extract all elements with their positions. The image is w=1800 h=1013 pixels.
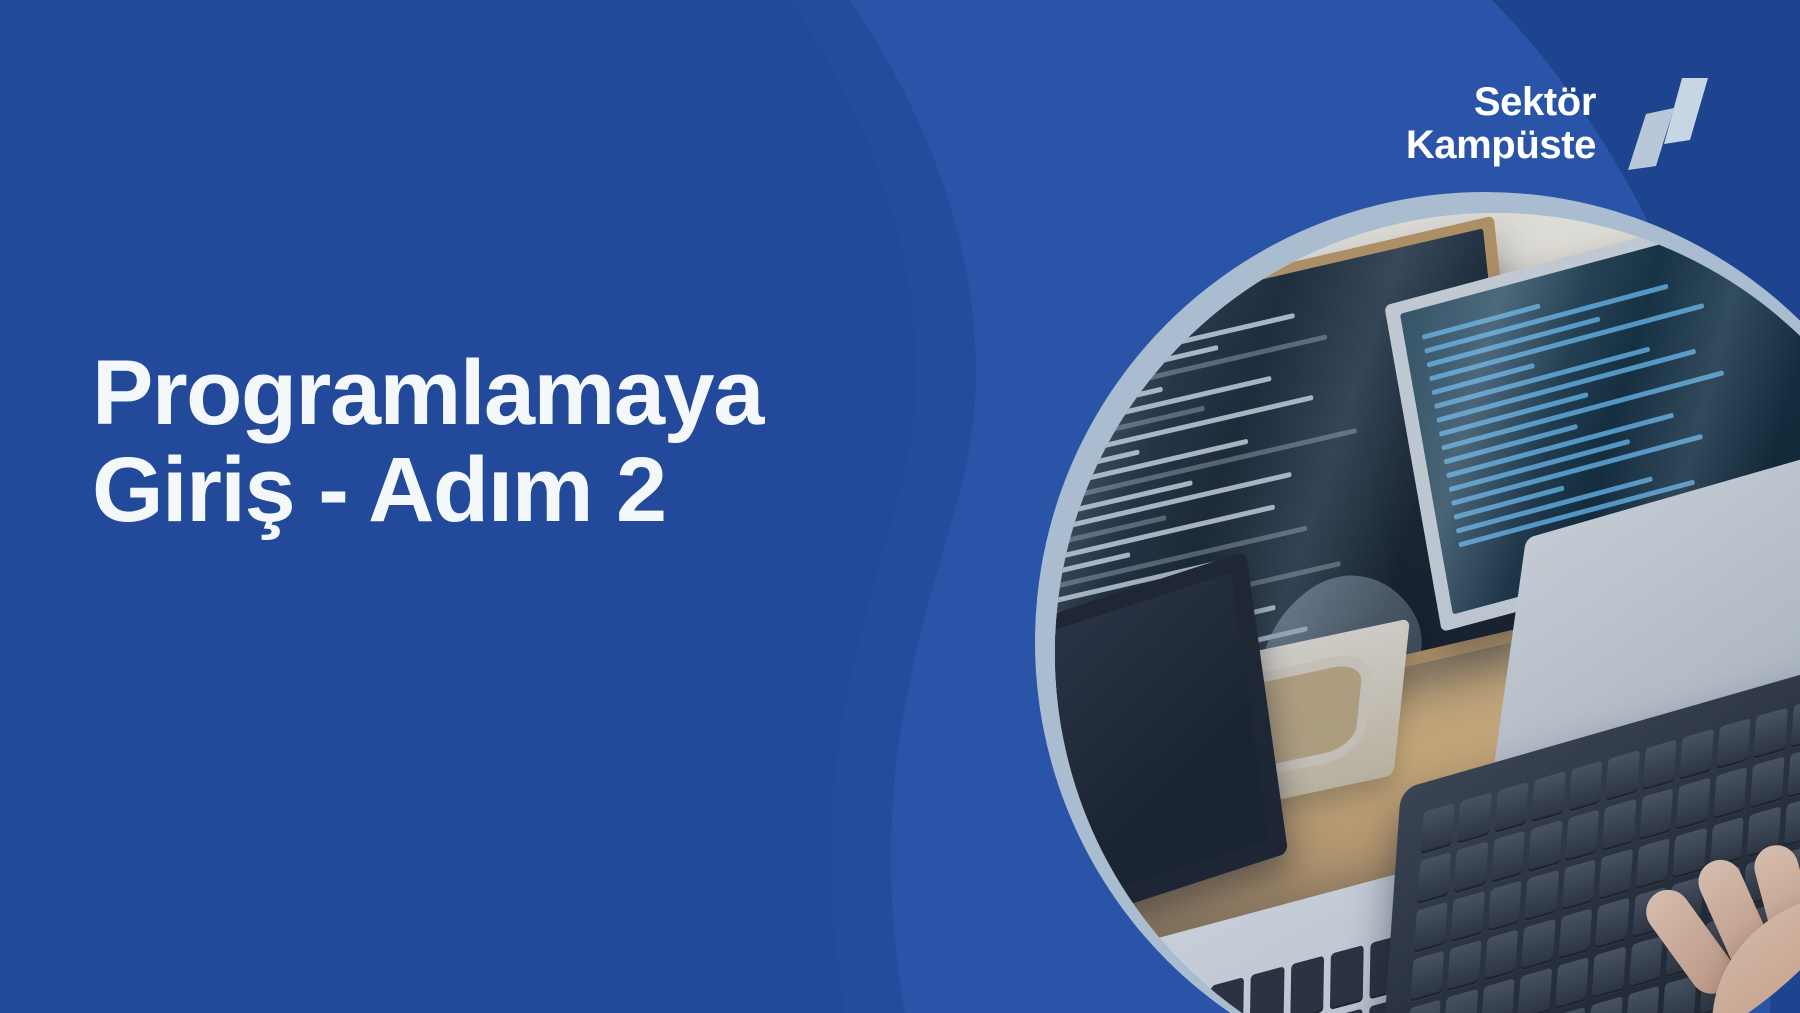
brand-logo[interactable]: Sektör Kampüste bbox=[1406, 78, 1708, 170]
page-title-line2: Giriş - Adım 2 bbox=[92, 442, 952, 540]
brand-name-line1: Sektör bbox=[1406, 81, 1596, 124]
page-title: Programlamaya Giriş - Adım 2 bbox=[92, 345, 952, 540]
brand-name-line2: Kampüste bbox=[1406, 124, 1596, 167]
brand-wordmark: Sektör Kampüste bbox=[1406, 81, 1596, 167]
workspace-photo bbox=[1055, 213, 1800, 1013]
page-title-line1: Programlamaya bbox=[92, 345, 952, 443]
sektor-kampuste-logo-mark-icon bbox=[1612, 78, 1708, 170]
slide-canvas: Sektör Kampüste Programlamaya Giriş - Ad… bbox=[0, 0, 1800, 1013]
